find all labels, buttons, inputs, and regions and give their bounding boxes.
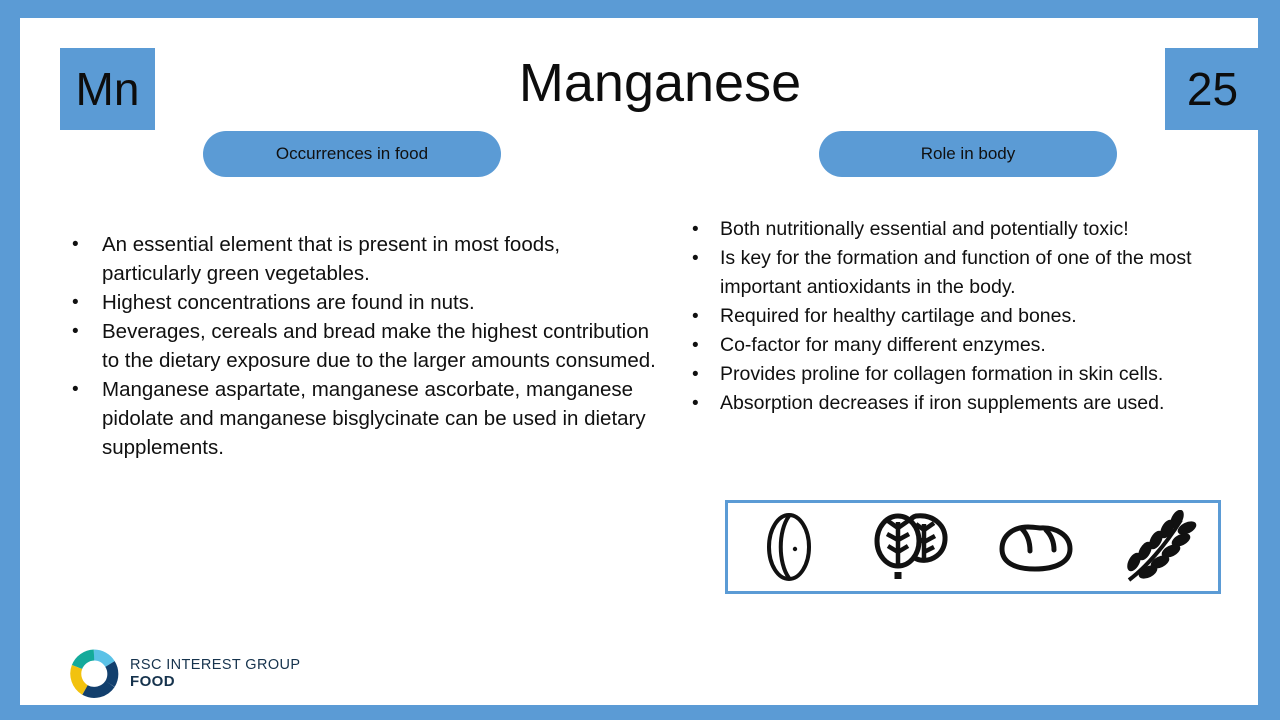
bread-loaf-icon [979,507,1089,587]
section-heading-occurrences-label: Occurrences in food [276,144,428,164]
list-item-text: Beverages, cereals and bread make the hi… [102,320,656,372]
slide-canvas: Mn Manganese 25 Occurrences in food Role… [0,0,1280,720]
bullet-glyph: • [692,244,699,273]
bullet-glyph: • [692,360,699,389]
list-item-text: Required for healthy cartilage and bones… [720,305,1077,327]
list-item-text: Co-factor for many different enzymes. [720,334,1046,356]
food-icon-strip [725,500,1221,594]
leafy-greens-icon [857,507,967,587]
nut-icon [734,507,844,587]
list-item-text: Both nutritionally essential and potenti… [720,218,1129,240]
list-item-text: Manganese aspartate, manganese ascorbate… [102,378,646,459]
bullet-glyph: • [692,331,699,360]
list-item: • Absorption decreases if iron supplemen… [678,389,1238,418]
list-item-text: Is key for the formation and function of… [720,247,1192,298]
slide-inner-frame: Mn Manganese 25 Occurrences in food Role… [20,18,1258,705]
role-in-body-content: • Both nutritionally essential and poten… [678,215,1238,418]
atomic-number: 25 [1187,66,1238,112]
bullet-glyph: • [72,317,79,346]
logo-text-block: RSC INTEREST GROUP FOOD [130,657,300,690]
list-item-text: Absorption decreases if iron supplements… [720,392,1164,414]
list-item: • Co-factor for many different enzymes. [678,331,1238,360]
wheat-stalk-icon [1102,507,1212,587]
rsc-interest-group-logo: RSC INTEREST GROUP FOOD [68,648,300,700]
bullet-glyph: • [72,375,79,404]
logo-line-2: FOOD [130,674,300,691]
list-item: • Both nutritionally essential and poten… [678,215,1238,244]
rsc-c-mark-icon [68,648,120,700]
logo-line-1: RSC INTEREST GROUP [130,657,300,673]
atomic-number-box: 25 [1165,48,1260,130]
list-item: • Manganese aspartate, manganese ascorba… [60,375,660,462]
list-item-text: Provides proline for collagen formation … [720,363,1163,385]
list-item: • Provides proline for collagen formatio… [678,360,1238,389]
list-item: • Beverages, cereals and bread make the … [60,317,660,375]
list-item-text: Highest concentrations are found in nuts… [102,291,475,314]
occurrences-in-food-content: • An essential element that is present i… [60,230,660,462]
section-heading-role[interactable]: Role in body [819,131,1117,177]
list-item: • Highest concentrations are found in nu… [60,288,660,317]
list-item-text: An essential element that is present in … [102,233,560,285]
section-heading-role-label: Role in body [921,144,1016,164]
bullet-glyph: • [72,230,79,259]
bullet-glyph: • [72,288,79,317]
section-heading-occurrences[interactable]: Occurrences in food [203,131,501,177]
list-item: • Is key for the formation and function … [678,244,1238,302]
bullet-glyph: • [692,215,699,244]
page-title: Manganese [20,54,1280,113]
bullet-glyph: • [692,389,699,418]
list-item: • Required for healthy cartilage and bon… [678,302,1238,331]
list-item: • An essential element that is present i… [60,230,660,288]
bullet-glyph: • [692,302,699,331]
role-bullet-list: • Both nutritionally essential and poten… [678,215,1238,418]
occurrences-bullet-list: • An essential element that is present i… [60,230,660,462]
